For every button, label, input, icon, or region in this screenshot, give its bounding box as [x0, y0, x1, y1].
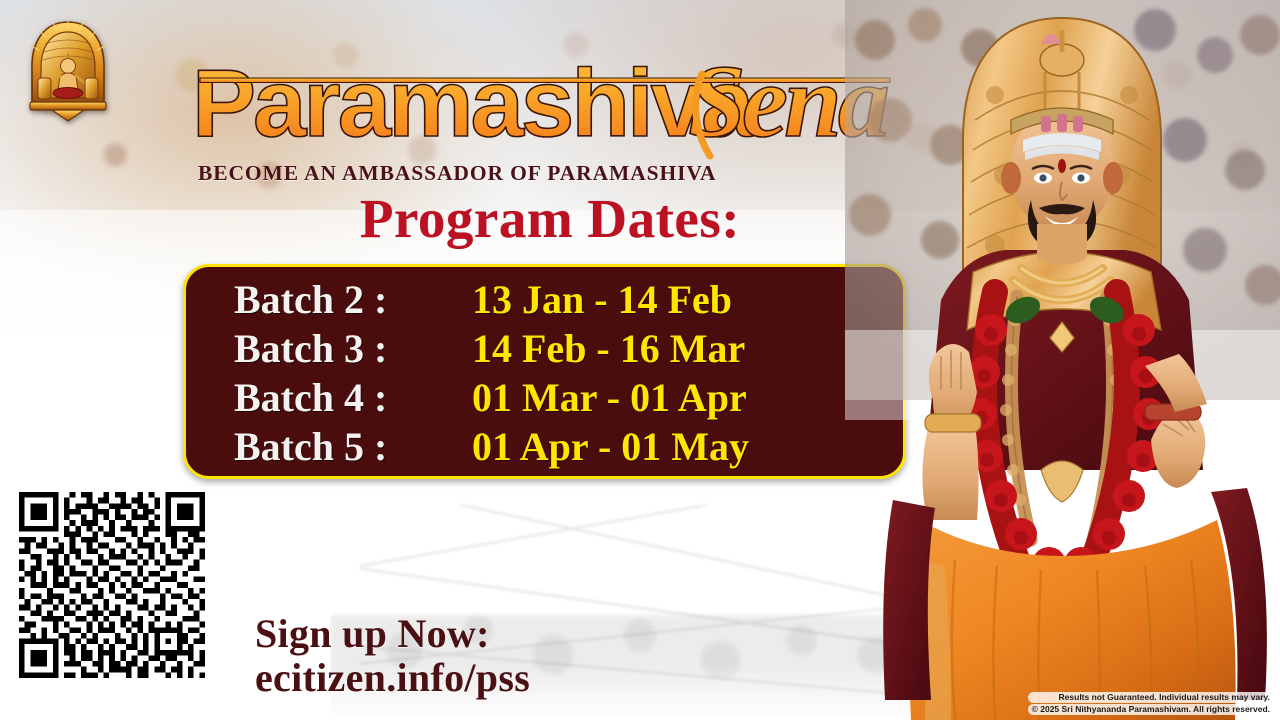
- program-dates-panel: Batch 2 : 13 Jan - 14 Feb Batch 3 : 14 F…: [183, 264, 906, 479]
- batch-label: Batch 4 :: [234, 373, 472, 422]
- batch-dates: 14 Feb - 16 Mar: [472, 324, 745, 373]
- batch-label: Batch 5 :: [234, 422, 472, 471]
- batch-list: Batch 2 : 13 Jan - 14 Feb Batch 3 : 14 F…: [186, 275, 903, 471]
- signup-url[interactable]: ecitizen.info/pss: [255, 656, 530, 700]
- registration-qr-code[interactable]: [19, 492, 205, 678]
- page-title: Program Dates:: [200, 188, 900, 250]
- logo-text-paramashiva: Paramashiva: [192, 50, 755, 157]
- signup-cta: Sign up Now:: [255, 611, 490, 656]
- deity-seal-icon: [22, 18, 114, 122]
- batch-row: Batch 5 : 01 Apr - 01 May: [234, 422, 885, 471]
- batch-dates: 01 Apr - 01 May: [472, 422, 749, 471]
- disclaimer-line-2: © 2025 Sri Nithyananda Paramashivam. All…: [1028, 704, 1274, 715]
- brand-logo: Paramashiva Sena: [190, 48, 910, 166]
- poster-canvas: Paramashiva Sena BECOME AN AMBASSADOR OF…: [0, 0, 1280, 720]
- guru-portrait-photo: [845, 0, 1280, 720]
- signup-block: Sign up Now: ecitizen.info/pss: [255, 612, 530, 700]
- batch-dates: 01 Mar - 01 Apr: [472, 373, 747, 422]
- batch-label: Batch 3 :: [234, 324, 472, 373]
- disclaimer-line-1: Results not Guaranteed. Individual resul…: [1028, 692, 1274, 703]
- batch-row: Batch 3 : 14 Feb - 16 Mar: [234, 324, 885, 373]
- batch-row: Batch 4 : 01 Mar - 01 Apr: [234, 373, 885, 422]
- brand-tagline: BECOME AN AMBASSADOR OF PARAMASHIVA: [198, 161, 710, 186]
- batch-label: Batch 2 :: [234, 275, 472, 324]
- legal-disclaimer: Results not Guaranteed. Individual resul…: [1028, 692, 1274, 715]
- batch-dates: 13 Jan - 14 Feb: [472, 275, 732, 324]
- batch-row: Batch 2 : 13 Jan - 14 Feb: [234, 275, 885, 324]
